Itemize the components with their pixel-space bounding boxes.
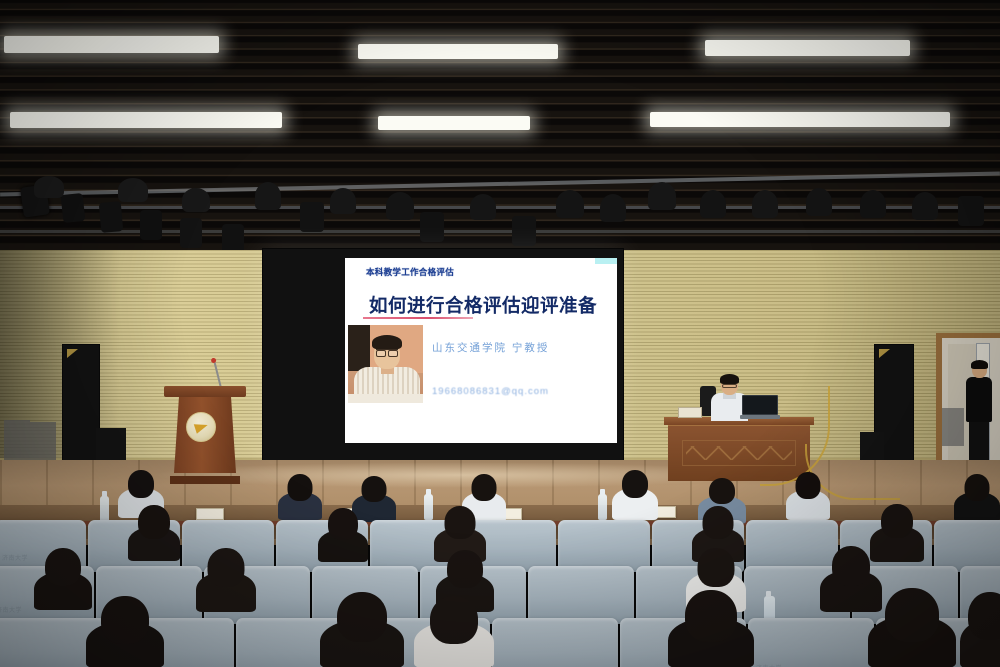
spotlight (180, 218, 202, 248)
spotlight (600, 194, 626, 222)
spotlight (420, 212, 444, 242)
auditorium-seat[interactable]: 济南大学 (748, 618, 874, 667)
ceiling-light-panel (4, 36, 219, 53)
slide-email-text: 19668086831@qq.com (432, 386, 549, 397)
audience-member (86, 596, 164, 667)
seat-logo: 济南大学 (0, 605, 22, 614)
ceiling-light-panel (705, 40, 910, 56)
spotlight (806, 188, 832, 216)
podium-base (170, 476, 240, 484)
glasses-icon (722, 384, 737, 388)
auditorium-scene: 本科教学工作合格评估 如何进行合格评估迎评准备 山东交通学院 宁教授 19668… (0, 0, 1000, 667)
ceiling-light-panel (10, 112, 282, 128)
water-bottle (100, 496, 109, 522)
speaker-badge-icon (67, 349, 78, 358)
speaker-portrait-photo (348, 325, 423, 403)
audience-member (612, 470, 658, 520)
spotlight (34, 176, 64, 198)
university-emblem-icon (186, 412, 216, 442)
pa-speaker-left (62, 344, 100, 464)
slide-title-underline (363, 317, 473, 319)
auditorium-seat[interactable] (934, 520, 1000, 572)
spotlight (330, 188, 356, 214)
desk-nameplate (678, 407, 702, 418)
auditorium-seat[interactable] (558, 520, 650, 572)
standing-person (966, 362, 992, 472)
seat-logo: 济南大学 (756, 663, 782, 667)
audience-member (128, 505, 180, 561)
spotlight (140, 210, 162, 240)
spotlight (512, 216, 536, 246)
spotlight (99, 201, 124, 233)
audience-member (278, 474, 322, 520)
audience-member (954, 474, 1000, 522)
audience-member (320, 592, 404, 667)
slide-header-text: 本科教学工作合格评估 (366, 266, 454, 278)
ceiling-light-panel (358, 44, 558, 59)
presentation-slide: 本科教学工作合格评估 如何进行合格评估迎评准备 山东交通学院 宁教授 19668… (345, 258, 617, 443)
audience-member (414, 596, 494, 667)
folding-chair[interactable] (942, 408, 964, 446)
slide-presenter-line: 山东交通学院 宁教授 (432, 340, 549, 355)
spotlight (700, 190, 726, 218)
spotlight (648, 182, 676, 210)
side-chair[interactable] (4, 420, 30, 462)
audience-member (960, 592, 1000, 667)
ceiling-light-panel (650, 112, 950, 127)
spotlight (912, 192, 938, 220)
slide-title-text: 如何进行合格评估迎评准备 (361, 292, 605, 318)
audience-member (668, 590, 754, 667)
slide-corner-accent (595, 258, 617, 264)
auditorium-seat[interactable] (492, 618, 618, 667)
podium-top (164, 386, 246, 397)
spotlight (255, 182, 281, 210)
spotlight (300, 202, 324, 232)
ceiling-light-panel (378, 116, 530, 130)
lectern-podium[interactable] (168, 386, 242, 480)
spotlight (182, 188, 210, 212)
audience-member (868, 588, 956, 667)
spotlight (61, 193, 86, 223)
spotlight (556, 190, 584, 218)
audience-member (786, 472, 830, 520)
audience-member (318, 508, 368, 562)
projection-screen: 本科教学工作合格评估 如何进行合格评估迎评准备 山东交通学院 宁教授 19668… (262, 248, 624, 464)
spotlight (860, 190, 886, 218)
side-chair[interactable] (30, 422, 56, 464)
speaker-badge-icon (879, 349, 890, 358)
water-bottle (424, 494, 433, 520)
spotlight (958, 196, 984, 226)
audience-member (34, 548, 92, 610)
spotlight (386, 192, 414, 220)
water-bottle (598, 494, 607, 520)
spotlight (752, 190, 778, 218)
audience-member (196, 548, 256, 612)
auditorium-seat[interactable] (528, 566, 634, 624)
name-card (196, 508, 224, 520)
seat-logo: 济南大学 (2, 553, 28, 562)
spotlight (470, 194, 496, 220)
spotlight (118, 178, 148, 202)
